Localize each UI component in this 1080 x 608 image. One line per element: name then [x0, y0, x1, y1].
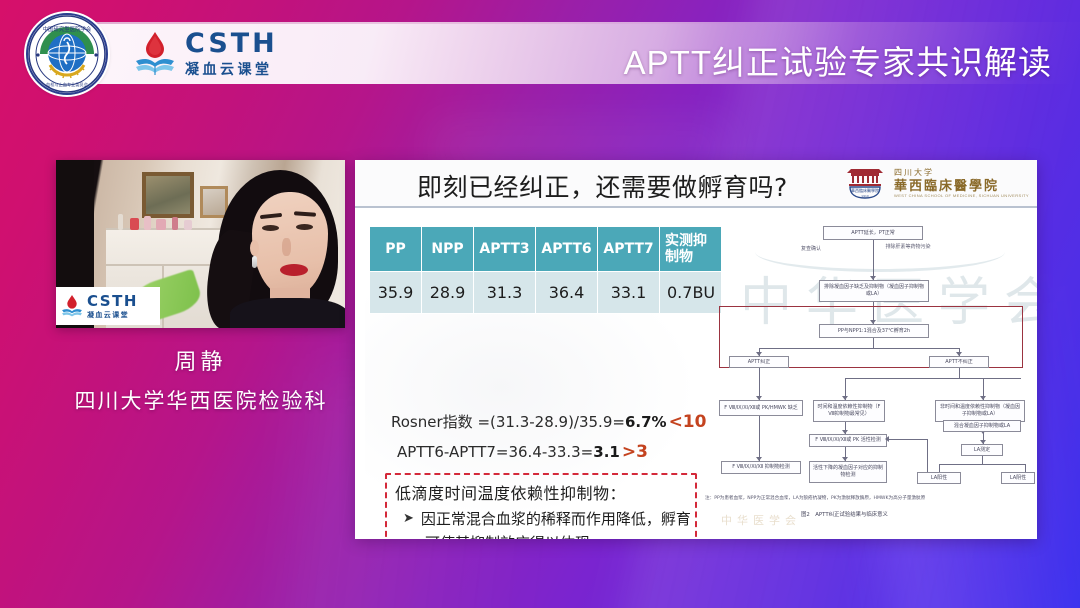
callout-bullet-1-text: 因正常混合血浆的稀释而作用降低，孵育	[421, 508, 691, 529]
speaker-organization: 四川大学华西医院检验科	[36, 385, 366, 415]
flow-node-6: F Ⅷ/Ⅸ/Ⅺ/Ⅻ或 PK/HMWK 缺乏	[719, 400, 803, 416]
table-header-row: PP NPP APTT3 APTT6 APTT7 实测抑制物	[370, 227, 722, 272]
svg-text:1910: 1910	[861, 194, 869, 198]
slide-content[interactable]: 即刻已经纠正，还需要做孵育吗? 華西臨床醫學院	[355, 160, 1037, 539]
video-csth-watermark: CSTH 凝血云课堂	[56, 287, 160, 325]
table-cell-aptt7: 33.1	[598, 272, 660, 314]
page-title: APTT纠正试验专家共识解读	[624, 36, 1052, 84]
flow-line-4	[759, 348, 959, 349]
table-cell-inhibitor: 0.7BU	[660, 272, 722, 314]
flow-node-4: APTT纠正	[729, 356, 789, 368]
university-logo: 華西臨床醫學院 1910 四川大学 華西臨床醫學院 WEST CHINA SCH…	[842, 164, 1029, 202]
csth-wordmark: CSTH	[185, 30, 278, 57]
callout-bullet-1-cont-text: 可使其抑制效应得以体现	[425, 532, 590, 539]
flow-node-2: 排除凝血因子缺乏及抑制物（凝血因子抑制物或LA）	[819, 280, 929, 302]
table-header-aptt7: APTT7	[598, 227, 660, 272]
speaker-video-feed[interactable]: CSTH 凝血云课堂	[56, 160, 345, 328]
flow-line-19	[939, 464, 940, 472]
table-row: 35.9 28.9 31.3 36.4 33.1 0.7BU	[370, 272, 722, 314]
formula-rosner-expr: =(31.3-28.9)/35.9=	[477, 413, 625, 431]
slide-body: 中华医学会 PP NPP APTT3 APTT6 APTT7 实测抑制物 35.…	[355, 208, 1037, 539]
university-line-3: WEST CHINA SCHOOL OF MEDICINE, SICHUAN U…	[894, 194, 1029, 198]
formula-aptt-diff-compare: >3	[622, 442, 648, 462]
aptt-flowchart-figure: APTT延长，PT正常 复查确认 排除肝素等药物污染 排除凝血因子缺乏及抑制物（…	[715, 214, 1033, 536]
callout-title: 低滴度时间温度依赖性抑制物：	[395, 480, 626, 504]
formula-aptt-diff-label: APTT6-APTT7	[397, 443, 496, 461]
csth-subtitle: 凝血云课堂	[185, 62, 278, 76]
university-line-2: 華西臨床醫學院	[894, 179, 1029, 192]
flow-node-15: LA阴性	[1001, 472, 1035, 484]
table-cell-aptt6: 36.4	[536, 272, 598, 314]
formula-rosner-compare: <10	[669, 412, 707, 432]
table-header-npp: NPP	[422, 227, 474, 272]
table-cell-npp: 28.9	[422, 272, 474, 314]
flow-line-8	[959, 368, 960, 378]
flow-line-18	[939, 464, 1025, 465]
flow-node-10: 活性下降的凝血因子对应的抑制物检测	[809, 461, 887, 483]
speaker-portrait	[208, 170, 345, 328]
svg-text:血栓与止血专业委员会: 血栓与止血专业委员会	[46, 81, 89, 88]
table-cell-aptt3: 31.3	[474, 272, 536, 314]
callout-bullet-1: ➤ 因正常混合血浆的稀释而作用降低，孵育	[403, 508, 691, 529]
west-china-gate-icon: 華西臨床醫學院 1910	[842, 164, 888, 202]
table-header-aptt6: APTT6	[536, 227, 598, 272]
flow-line-17	[982, 456, 983, 464]
table-header-inhibitor: 实测抑制物	[660, 227, 722, 272]
flow-caption-note: 注：PP为患者血浆，NPP为正常混合血浆，LA为狼疮抗凝物，PK为激肽释放酶原，…	[705, 496, 925, 503]
header-bar: 中国研究型医院学会 血栓与止血专业委员会 CSTH 凝血云课堂 APTT纠正试验…	[0, 0, 1080, 104]
formula-aptt-diff-result: 3.1	[593, 443, 620, 461]
svg-text:中国研究型医院学会: 中国研究型医院学会	[43, 25, 92, 33]
speaker-name: 周静	[56, 344, 345, 376]
csth-blood-drop-book-icon	[134, 30, 176, 76]
flow-node-14: LA阳性	[917, 472, 961, 484]
flow-line-22	[927, 439, 928, 472]
formula-aptt-diff: APTT6-APTT7=36.4-33.3=3.1>3	[397, 442, 648, 462]
flow-node-12: 混合凝血因子抑制物或LA	[943, 420, 1021, 432]
table-header-aptt3: APTT3	[474, 227, 536, 272]
flow-arrow-13	[885, 436, 889, 442]
watermark-wordmark: CSTH	[87, 294, 138, 309]
svg-text:華西臨床醫學院: 華西臨床醫學院	[851, 187, 879, 193]
slide-gold-watermark: 中华医学会	[721, 512, 801, 528]
flow-line-20	[1025, 464, 1026, 472]
formula-aptt-diff-expr: =36.4-33.3=	[496, 443, 593, 461]
flow-node-8: 非时间和温度依赖性抑制物（凝血因子抑制物或LA）	[935, 400, 1025, 422]
flow-node-3: PP与NPP1:1混合及37℃孵育2h	[819, 324, 929, 338]
formula-rosner-result: 6.7%	[625, 413, 667, 431]
flow-node-7: 时间和温度依赖性抑制物（F Ⅷ抑制物最常见）	[813, 400, 885, 422]
university-line-1: 四川大学	[894, 169, 1029, 177]
bullet-arrow-icon: ➤	[403, 508, 414, 528]
association-emblem-icon: 中国研究型医院学会 血栓与止血专业委员会	[26, 13, 108, 95]
table-header-pp: PP	[370, 227, 422, 272]
flow-line-21	[887, 439, 927, 440]
slide-title: 即刻已经纠正，还需要做孵育吗?	[417, 168, 788, 204]
aptt-results-table: PP NPP APTT3 APTT6 APTT7 实测抑制物 35.9 28.9…	[369, 226, 722, 314]
flow-label-2: 排除肝素等药物污染	[881, 244, 935, 251]
flow-node-13: LA测定	[961, 444, 1003, 456]
flow-line-1	[873, 240, 874, 280]
slide-header: 即刻已经纠正，还需要做孵育吗? 華西臨床醫學院	[355, 160, 1037, 208]
flow-line-3	[873, 338, 874, 348]
flow-node-1: APTT延长，PT正常	[823, 226, 923, 240]
table-cell-pp: 35.9	[370, 272, 422, 314]
flow-line-14	[759, 416, 760, 461]
header-band-edge	[66, 22, 1080, 24]
flow-node-9: F Ⅷ/Ⅸ/Ⅺ/Ⅻ或 PK 活性检测	[809, 434, 887, 447]
flow-caption-figure: 图2 APTT纠正试验结果与临床意义	[801, 510, 888, 518]
formula-rosner-label: Rosner指数	[391, 413, 473, 431]
formula-rosner: Rosner指数 =(31.3-28.9)/35.9=6.7%<10	[391, 411, 706, 432]
flow-line-9	[845, 378, 1021, 379]
csth-logo: CSTH 凝血云课堂	[134, 30, 278, 76]
callout-bullet-1-cont: 可使其抑制效应得以体现	[425, 532, 590, 539]
flow-label-1: 复查确认	[789, 246, 833, 253]
flow-node-11: F Ⅷ/Ⅸ/Ⅺ/Ⅻ 抑制物检测	[721, 461, 801, 474]
watermark-blood-drop-book-icon	[61, 294, 83, 318]
watermark-subtitle: 凝血云课堂	[87, 312, 138, 319]
flow-node-5: APTT不纠正	[929, 356, 989, 368]
presentation-stage: 中国研究型医院学会 血栓与止血专业委员会 CSTH 凝血云课堂 APTT纠正试验…	[0, 0, 1080, 608]
